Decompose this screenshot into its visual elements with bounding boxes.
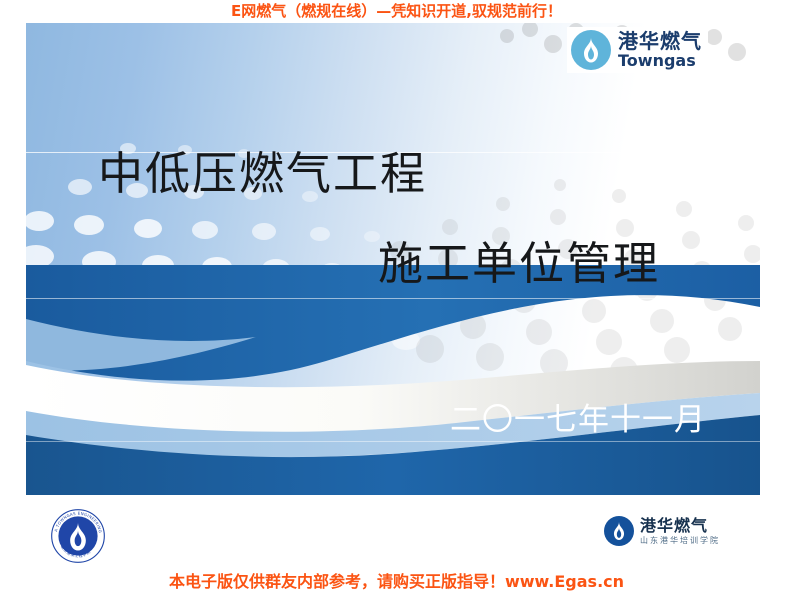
towngas-name-en: Towngas: [618, 53, 702, 69]
towngas-bottom-subtitle: 山东港华培训学院: [640, 537, 720, 545]
divider-line-upper: [26, 152, 760, 153]
top-watermark-banner: E网燃气（燃规在线）—凭知识开道,驭规范前行！: [0, 0, 793, 23]
bottom-watermark-text: 本电子版仅供群友内部参考，请购买正版指导！www.Egas.cn: [169, 574, 624, 590]
flame-icon: [613, 522, 626, 541]
towngas-flame-mark-dark-icon: [604, 516, 634, 546]
towngas-bottom-name-cn: 港华燃气: [640, 518, 720, 534]
wave-decoration: [26, 265, 760, 495]
towngas-flame-mark-icon: [571, 30, 611, 70]
divider-line-lower: [26, 441, 760, 442]
towngas-bottom-logo-text: 港华燃气 山东港华培训学院: [640, 518, 720, 545]
bottom-watermark-banner: 本电子版仅供群友内部参考，请购买正版指导！www.Egas.cn: [0, 562, 793, 602]
towngas-name-cn: 港华燃气: [618, 31, 702, 51]
towngas-logo-top: 港华燃气 Towngas: [567, 27, 708, 73]
presentation-slide-page: E网燃气（燃规在线）—凭知识开道,驭规范前行！: [0, 0, 793, 602]
divider-line-middle: [26, 298, 760, 299]
slide-canvas: 中低压燃气工程 施工单位管理 二〇一七年十一月: [26, 23, 760, 495]
towngas-logo-text: 港华燃气 Towngas: [618, 31, 702, 69]
academy-seal-icon: A TOWNGAS ENGINEERING ACADEMY 山东港华工程学院: [50, 508, 106, 564]
top-watermark-text: E网燃气（燃规在线）—凭知识开道,驭规范前行！: [231, 4, 562, 19]
flame-icon: [582, 38, 600, 64]
towngas-logo-bottom: 港华燃气 山东港华培训学院: [604, 516, 720, 546]
